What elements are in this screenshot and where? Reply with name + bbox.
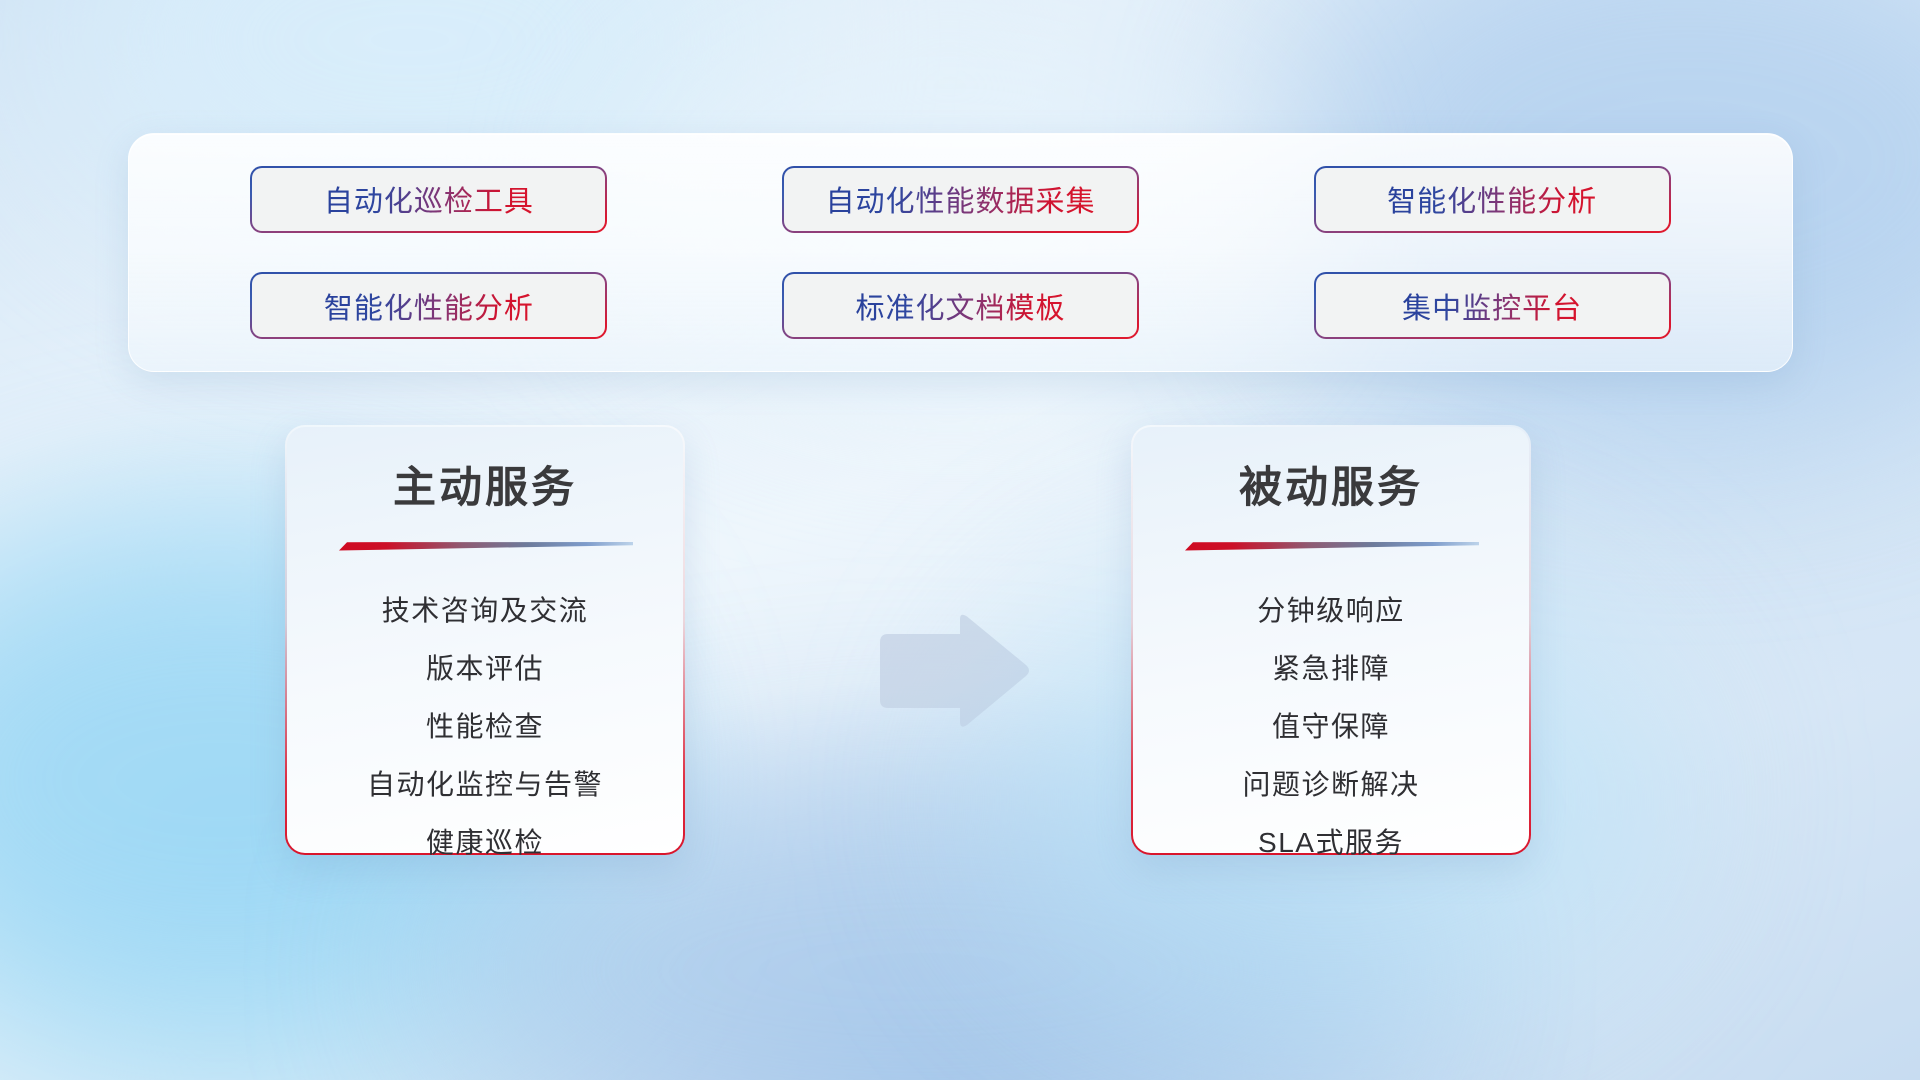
infographic-canvas: 自动化巡检工具 自动化性能数据采集 智能化性能分析 智能化性能分析 标准化文档模… [0, 0, 1920, 1080]
capability-pill-4[interactable]: 智能化性能分析 [250, 272, 607, 339]
capability-pill-label: 自动化巡检工具 [324, 178, 534, 220]
service-item-list-active: 技术咨询及交流 版本评估 性能检查 自动化监控与告警 健康巡检 [287, 560, 683, 872]
capability-pill-surface: 集中监控平台 [1316, 274, 1669, 337]
capability-pill-5[interactable]: 标准化文档模板 [782, 272, 1139, 339]
service-item: 版本评估 [426, 640, 544, 698]
service-card-active[interactable]: 主动服务 [285, 425, 685, 855]
service-card-surface: 被动服务 [1133, 427, 1529, 853]
capability-pill-6[interactable]: 集中监控平台 [1314, 272, 1671, 339]
capability-pill-surface: 自动化性能数据采集 [784, 168, 1137, 231]
capability-pill-2[interactable]: 自动化性能数据采集 [782, 166, 1139, 233]
service-item: SLA式服务 [1258, 814, 1404, 872]
capability-pill-surface: 标准化文档模板 [784, 274, 1137, 337]
service-item: 紧急排障 [1272, 640, 1390, 698]
service-card-passive[interactable]: 被动服务 [1131, 425, 1531, 855]
capability-pill-label: 集中监控平台 [1402, 285, 1582, 327]
right-arrow-icon [872, 612, 1032, 730]
card-title-passive: 被动服务 [1239, 467, 1423, 510]
service-item: 问题诊断解决 [1242, 756, 1419, 814]
service-item-list-passive: 分钟级响应 紧急排障 值守保障 问题诊断解决 SLA式服务 [1133, 560, 1529, 872]
capability-pill-label: 标准化文档模板 [855, 285, 1065, 327]
capability-pill-surface: 自动化巡检工具 [252, 168, 605, 231]
card-divider [337, 540, 633, 552]
service-item: 技术咨询及交流 [382, 582, 589, 640]
service-item: 健康巡检 [426, 814, 544, 872]
capability-panel: 自动化巡检工具 自动化性能数据采集 智能化性能分析 智能化性能分析 标准化文档模… [128, 133, 1793, 372]
capability-pill-3[interactable]: 智能化性能分析 [1314, 166, 1671, 233]
card-title-active: 主动服务 [393, 467, 577, 510]
service-item: 值守保障 [1272, 698, 1390, 756]
capability-pill-label: 智能化性能分析 [324, 285, 534, 327]
capability-pill-1[interactable]: 自动化巡检工具 [250, 166, 607, 233]
service-card-surface: 主动服务 [287, 427, 683, 853]
capability-pill-surface: 智能化性能分析 [1316, 168, 1669, 231]
card-divider [1183, 540, 1479, 552]
capability-pill-label: 自动化性能数据采集 [825, 178, 1095, 220]
service-item: 自动化监控与告警 [367, 756, 603, 814]
capability-pill-surface: 智能化性能分析 [252, 274, 605, 337]
capability-pill-label: 智能化性能分析 [1387, 178, 1597, 220]
service-item: 分钟级响应 [1257, 582, 1405, 640]
service-item: 性能检查 [426, 698, 544, 756]
